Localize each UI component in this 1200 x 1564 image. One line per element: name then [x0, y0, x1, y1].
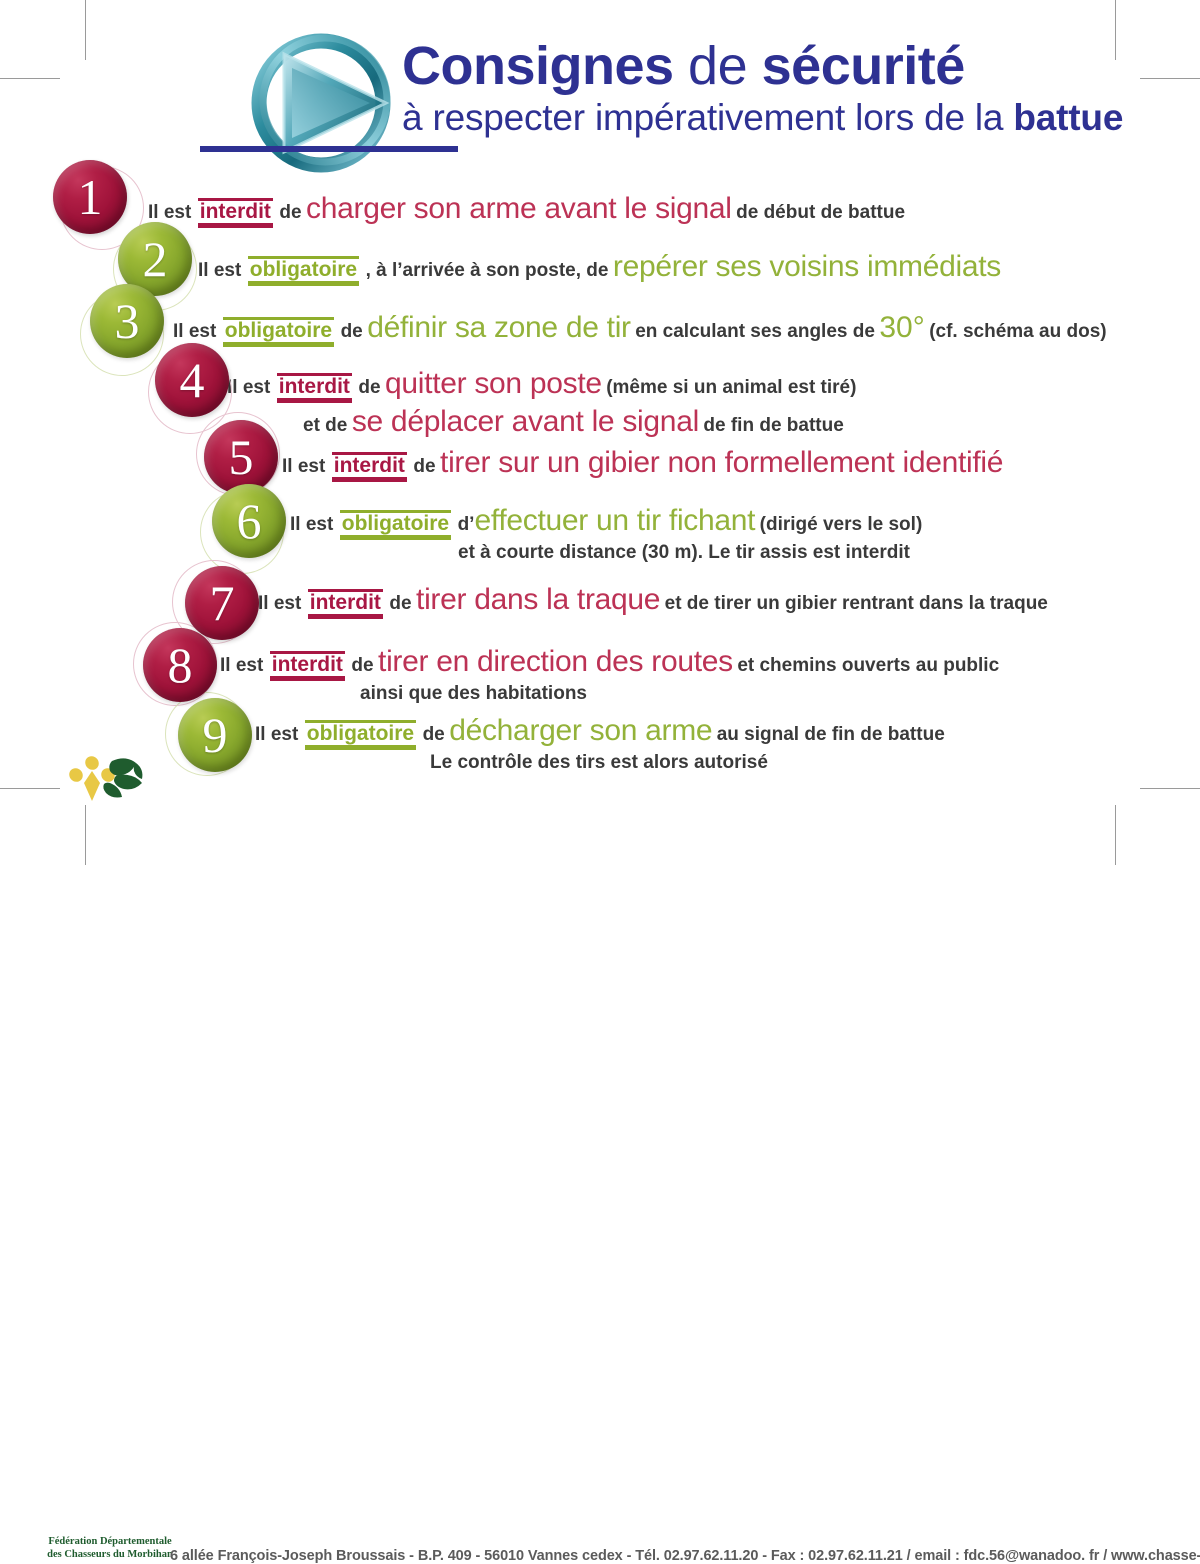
rule-1-keyword: interdit — [198, 198, 273, 228]
rule-2-connector: , à l’arrivée à son poste, de — [366, 260, 609, 281]
rule-text-3: Il est obligatoire de définir sa zone de… — [173, 311, 1107, 347]
rule-6-line2: et à courte distance (30 m). Le tir assi… — [458, 542, 910, 563]
rule-6-keyword: obligatoire — [340, 510, 451, 540]
rule-9-emphasis: décharger son arme — [449, 714, 712, 747]
rule-8-tail: et chemins ouverts au public — [737, 655, 999, 676]
rule-4-tail: (même si un animal est tiré) — [606, 377, 856, 398]
rule-7-keyword: interdit — [308, 589, 383, 619]
rule-2-lead: Il est — [198, 260, 241, 281]
rule-4-keyword: interdit — [277, 373, 352, 403]
rule-number-badge-7[interactable]: 7 — [185, 566, 259, 640]
rule-4-connector: de — [358, 377, 380, 398]
rule-8-emphasis: tirer en direction des routes — [378, 645, 733, 678]
rule-1-emphasis: charger son arme avant le signal — [306, 192, 732, 225]
footer-address-line: 6 allée François-Joseph Broussais - B.P.… — [170, 1548, 1200, 1564]
rule-1-lead: Il est — [148, 202, 191, 223]
rule-9-lead: Il est — [255, 724, 298, 745]
rule-1-connector: de — [279, 202, 301, 223]
rule-2-emphasis: repérer ses voisins immédiats — [613, 250, 1001, 283]
rule-3-angle-value: 30° — [879, 311, 924, 344]
rule-text-5: Il est interdit de tirer sur un gibier n… — [282, 446, 1003, 482]
rule-3-emphasis: définir sa zone de tir — [367, 311, 631, 344]
rule-6-connector: d’ — [458, 514, 475, 535]
rule-2-keyword: obligatoire — [248, 256, 359, 286]
rule-9-connector: de — [423, 724, 445, 745]
rule-number-badge-6[interactable]: 6 — [212, 484, 286, 558]
rule-6-tail: (dirigé vers le sol) — [760, 514, 923, 535]
rule-number-badge-3[interactable]: 3 — [90, 284, 164, 358]
rule-6-emphasis: effectuer un tir fichant — [474, 504, 755, 537]
rule-9-tail: au signal de fin de battue — [717, 724, 945, 745]
rule-8-line2: ainsi que des habitations — [360, 683, 587, 704]
rule-4-lead: Il est — [227, 377, 270, 398]
rule-4-emphasis: quitter son poste — [385, 367, 602, 400]
rule-number-badge-1[interactable]: 1 — [53, 160, 127, 234]
organization-name: Fédération Départementale des Chasseurs … — [40, 1535, 180, 1561]
rule-4-line2-lead: et de — [303, 415, 347, 436]
rule-8-lead: Il est — [220, 655, 263, 676]
rule-text-8: Il est interdit de tirer en direction de… — [220, 645, 999, 705]
rule-text-6: Il est obligatoire d’effectuer un tir fi… — [290, 504, 922, 564]
rule-7-emphasis: tirer dans la traque — [416, 583, 660, 616]
rule-4-line2-emphasis: se déplacer avant le signal — [352, 405, 699, 438]
rule-5-lead: Il est — [282, 456, 325, 477]
rule-5-keyword: interdit — [332, 452, 407, 482]
oak-leaves-emblem-icon — [52, 753, 172, 805]
rule-number-badge-8[interactable]: 8 — [143, 628, 217, 702]
rule-text-4: Il est interdit de quitter son poste (mê… — [227, 367, 856, 439]
rule-1-tail: de début de battue — [736, 202, 905, 223]
rule-3-keyword: obligatoire — [223, 317, 334, 347]
rule-7-lead: Il est — [258, 593, 301, 614]
rule-5-emphasis: tirer sur un gibier non formellement ide… — [440, 446, 1003, 479]
rule-number-badge-5[interactable]: 5 — [204, 420, 278, 494]
rules-list: 1 Il est interdit de charger son arme av… — [0, 0, 1200, 865]
rule-4-line2-tail: de fin de battue — [703, 415, 843, 436]
rule-number-badge-9[interactable]: 9 — [178, 698, 252, 772]
rule-text-1: Il est interdit de charger son arme avan… — [148, 192, 905, 228]
rule-3-tail: en calculant ses angles de — [635, 321, 875, 342]
org-line-1: Fédération Départementale — [40, 1535, 180, 1548]
rule-text-7: Il est interdit de tirer dans la traque … — [258, 583, 1048, 619]
rule-8-keyword: interdit — [270, 651, 345, 681]
rule-text-2: Il est obligatoire , à l’arrivée à son p… — [198, 250, 1001, 286]
rule-3-tail2: (cf. schéma au dos) — [929, 321, 1106, 342]
rule-3-lead: Il est — [173, 321, 216, 342]
rule-7-tail: et de tirer un gibier rentrant dans la t… — [665, 593, 1048, 614]
rule-7-connector: de — [389, 593, 411, 614]
rule-6-lead: Il est — [290, 514, 333, 535]
rule-3-connector: de — [341, 321, 363, 342]
org-line-2: des Chasseurs du Morbihan — [40, 1548, 180, 1561]
rule-number-badge-4[interactable]: 4 — [155, 343, 229, 417]
rule-8-connector: de — [351, 655, 373, 676]
rule-5-connector: de — [413, 456, 435, 477]
